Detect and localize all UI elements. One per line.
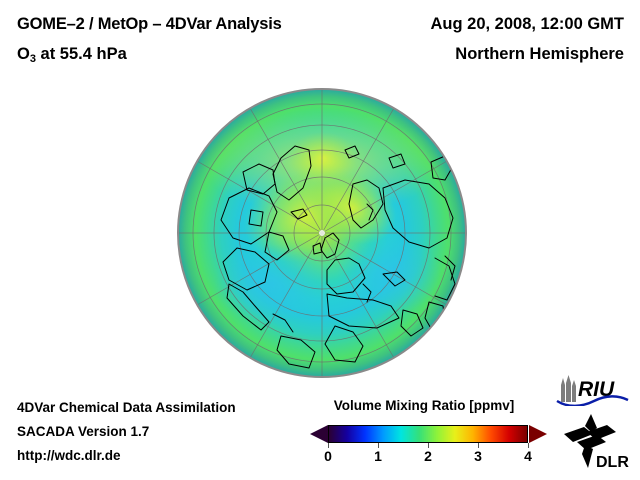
species-subscript: 3: [30, 53, 36, 65]
colorbar-extend-low-arrow: [310, 425, 328, 443]
region-label: Northern Hemisphere: [455, 45, 624, 64]
footer-line-method: 4DVar Chemical Data Assimilation: [17, 400, 236, 415]
footer-line-url[interactable]: http://wdc.dlr.de: [17, 448, 121, 463]
dlr-logo: DLR: [560, 412, 632, 474]
cathedral-spires-icon: [561, 375, 576, 402]
colorbar: Volume Mixing Ratio [ppmv] 01234: [300, 398, 548, 472]
colorbar-tick-label: 1: [363, 448, 393, 464]
globe-map: [177, 88, 467, 378]
page-title: GOME–2 / MetOp – 4DVar Analysis: [17, 15, 282, 34]
north-pole-marker: [319, 230, 325, 236]
dlr-wordmark: DLR: [596, 454, 629, 471]
colorbar-tick-label: 3: [463, 448, 493, 464]
colorbar-gradient: [328, 425, 528, 443]
species-level-label: O3 at 55.4 hPa: [17, 45, 127, 64]
colorbar-tick-label: 2: [413, 448, 443, 464]
species-level: at 55.4 hPa: [36, 45, 127, 63]
riu-logo: RIU: [556, 374, 630, 406]
colorbar-title: Volume Mixing Ratio [ppmv]: [300, 398, 548, 413]
colorbar-extend-high-arrow: [529, 425, 547, 443]
valid-datetime: Aug 20, 2008, 12:00 GMT: [431, 15, 625, 34]
colorbar-tick-label: 4: [513, 448, 543, 464]
species-name: O: [17, 45, 30, 63]
footer-line-version: SACADA Version 1.7: [17, 424, 149, 439]
colorbar-tick-label: 0: [313, 448, 343, 464]
